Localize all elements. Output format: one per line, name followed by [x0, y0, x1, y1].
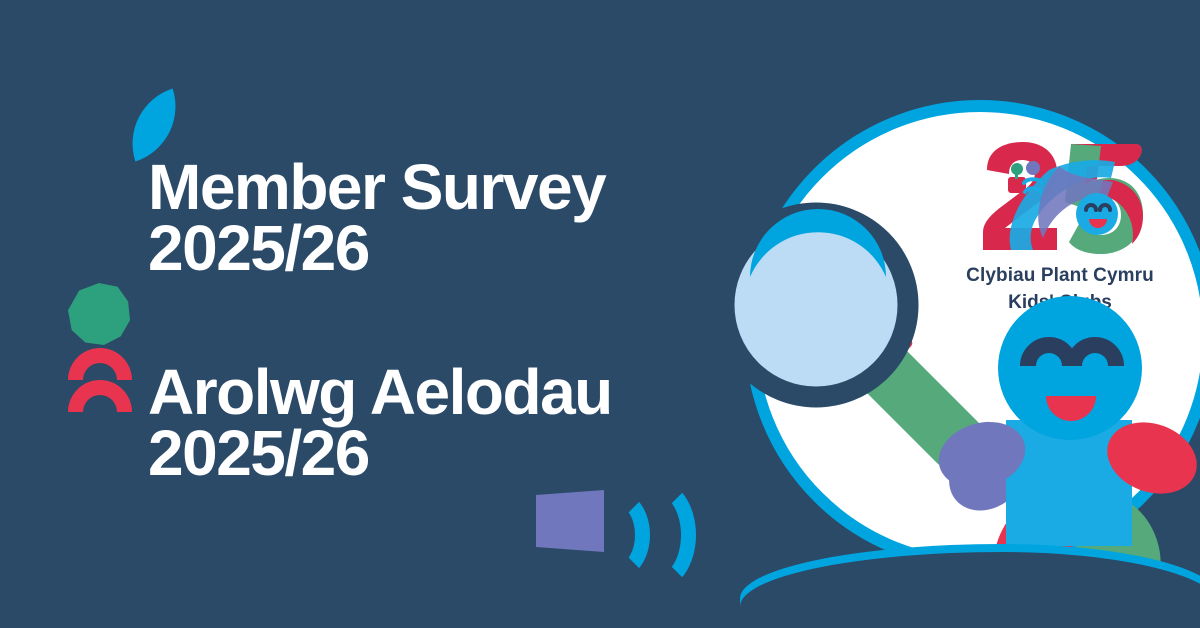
arch-outer-shape-icon	[68, 348, 132, 380]
title-english: Member Survey 2025/26	[148, 157, 605, 280]
sound-wave-outer-icon	[616, 479, 696, 591]
title-welsh: Arolwg Aelodau 2025/26	[148, 362, 612, 485]
title-english-line1: Member Survey	[148, 157, 605, 218]
title-english-line2: 2025/26	[148, 218, 605, 279]
member-survey-banner: Member Survey 2025/26 Arolwg Aelodau 202…	[0, 0, 1200, 628]
title-welsh-line2: 2025/26	[148, 423, 612, 484]
title-welsh-line1: Arolwg Aelodau	[148, 362, 612, 423]
arch-inner-shape-icon	[68, 380, 132, 412]
nonagon-shape-icon	[68, 283, 130, 345]
megaphone-icon	[536, 476, 696, 566]
